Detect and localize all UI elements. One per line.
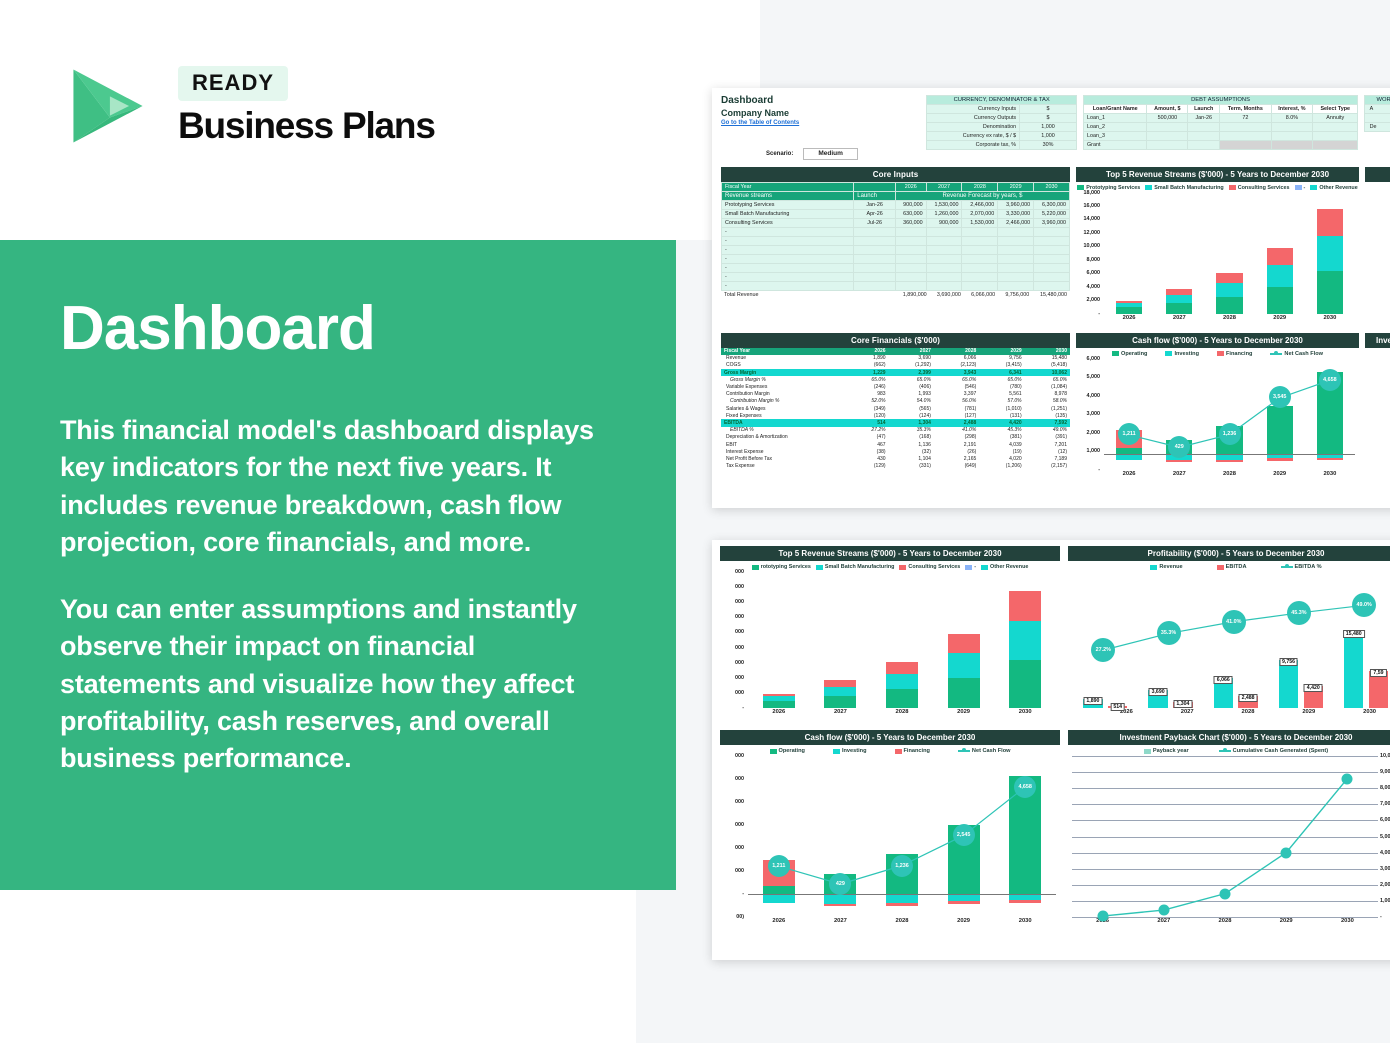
- x-tick: 2027: [1154, 315, 1204, 328]
- table-of-contents-link[interactable]: Go to the Table of Contents: [721, 120, 920, 126]
- legend-label: Payback year: [1153, 748, 1189, 754]
- bar-segment: [1267, 287, 1293, 314]
- net-cash-flow-bubble: 3,545: [1269, 386, 1291, 408]
- debt-row[interactable]: Grant: [1083, 141, 1357, 150]
- bar-value-label: 6,066: [1214, 676, 1233, 684]
- bar-group[interactable]: [1204, 193, 1254, 314]
- bars: 1,2114291,2362,5454,658: [748, 756, 1056, 917]
- working-panel-header: WOR: [1365, 96, 1390, 105]
- net-cash-flow-bubble: 4,658: [1014, 776, 1036, 798]
- brand-badge: READY: [178, 66, 288, 101]
- bar-segment: [886, 894, 918, 903]
- bar-segment: [763, 886, 795, 894]
- ebitda-percent-bubble: 27.2%: [1091, 638, 1115, 662]
- core-input-row[interactable]: Consulting ServicesJul-26360,000900,0001…: [722, 218, 1070, 227]
- chart-revenue-streams-bottom[interactable]: Top 5 Revenue Streams ($'000) - 5 Years …: [720, 546, 1060, 722]
- bar-segment: [1009, 900, 1041, 903]
- year-col: 2026: [895, 182, 926, 191]
- legend-item: Operating: [1112, 351, 1147, 357]
- year-col: 2027: [889, 348, 934, 355]
- bar-segment: [763, 894, 795, 903]
- plot-area: [1072, 756, 1378, 917]
- core-financials-row: EBITDA %27.2%35.3%41.0%45.3%49.0%: [721, 427, 1070, 434]
- bar-segment: [1166, 295, 1192, 303]
- legend-label: EBITDA: [1226, 564, 1247, 570]
- bar-segment: [1267, 458, 1293, 460]
- bar-value-label: 1,304: [1173, 700, 1192, 708]
- bar-segment: [886, 689, 918, 708]
- gridline: [1072, 917, 1378, 918]
- net-cash-flow-bubble: 2,545: [953, 824, 975, 846]
- legend-label: Investing: [1174, 351, 1199, 357]
- chart-title: Profitability ($'000) - 5 Years to Decem…: [1068, 546, 1390, 561]
- year-col: 2027: [926, 182, 962, 191]
- debt-col-header: Loan/Grant Name: [1083, 105, 1146, 114]
- bar-segment: [1166, 303, 1192, 313]
- forecast-label: Revenue Forecast by years, $: [895, 191, 1069, 200]
- core-input-row[interactable]: -: [722, 263, 1070, 272]
- bar-segment: [886, 662, 918, 674]
- bar-value-label: 514: [1110, 703, 1125, 711]
- x-tick: 2027: [1157, 709, 1218, 722]
- fiscal-year-label: Fiscal Year: [721, 348, 843, 355]
- bar-group[interactable]: [1255, 193, 1305, 314]
- data-point: [1097, 911, 1108, 922]
- year-col: 2030: [1034, 182, 1070, 191]
- x-axis-labels: 20262027202820292030: [1072, 918, 1378, 931]
- chart-title: Top 5 Revenue Streams ($'000) - 5 Years …: [1076, 167, 1359, 182]
- gridline: [1072, 901, 1378, 902]
- x-tick: 2029: [933, 709, 995, 722]
- total-revenue-cell: 15,480,000: [1032, 291, 1070, 299]
- bar-segment: [1216, 273, 1242, 283]
- dashboard-sheet-top[interactable]: Dashboard Company Name Go to the Table o…: [712, 88, 1390, 508]
- gridline: [1072, 756, 1378, 757]
- x-tick: 2028: [871, 918, 933, 931]
- legend-label: Operating: [1121, 351, 1147, 357]
- core-input-row[interactable]: -: [722, 236, 1070, 245]
- currency-row: Currency Inputs$: [927, 105, 1077, 114]
- legend-label: Consulting Services: [908, 564, 960, 570]
- hero-paragraph-1: This financial model's dashboard display…: [60, 412, 620, 561]
- x-tick: 2026: [1096, 709, 1157, 722]
- play-triangle-logo-icon: [60, 58, 156, 154]
- x-axis-labels: 20262027202820292030: [748, 709, 1056, 722]
- legend-swatch: [1217, 565, 1224, 570]
- legend-label: Financing: [904, 748, 930, 754]
- x-axis-labels: 20262027202820292030: [1096, 709, 1390, 722]
- bar-value-label: 9,756: [1279, 658, 1298, 666]
- bar-group[interactable]: [1305, 193, 1355, 314]
- chart-title: Cash flow ($'000) - 5 Years to December …: [1076, 333, 1359, 348]
- debt-row[interactable]: Loan_3: [1083, 132, 1357, 141]
- working-capital-table: WOR A De: [1364, 95, 1390, 132]
- bar-value-label: 15,480: [1343, 630, 1365, 638]
- chart-right-clipped-inv: Inve: [1365, 333, 1390, 484]
- legend-swatch: [895, 749, 902, 754]
- total-revenue-label: Total Revenue: [721, 291, 854, 299]
- legend-swatch: [1165, 351, 1172, 356]
- x-tick: 2029: [1255, 471, 1305, 484]
- legend-label: Operating: [779, 748, 805, 754]
- legend-label: Small Batch Manufacturing: [825, 564, 895, 570]
- legend-label: Other Revenue: [990, 564, 1028, 570]
- core-inputs-banner: Core Inputs: [721, 167, 1070, 182]
- core-input-row[interactable]: -: [722, 245, 1070, 254]
- bar-segment: [824, 696, 856, 708]
- legend-swatch: [833, 749, 840, 754]
- legend-label: -: [974, 564, 976, 570]
- legend-item: Other Revenue: [1310, 185, 1357, 191]
- core-input-row[interactable]: -: [722, 254, 1070, 263]
- total-revenue-cell: 1,890,000: [895, 291, 929, 299]
- data-point: [1158, 905, 1169, 916]
- legend-label: EBITDA %: [1295, 564, 1322, 570]
- zero-axis: [748, 894, 1056, 895]
- chart-legend: Prototyping ServicesSmall Batch Manufact…: [1076, 182, 1359, 193]
- bar-segment: [886, 903, 918, 906]
- net-cash-flow-bubble: 429: [829, 873, 851, 895]
- currency-denominator-tax-table: CURRENCY, DENOMINATOR & TAX Currency Inp…: [926, 95, 1077, 150]
- y-axis-labels: 6,0005,0004,0003,0002,0001,000-: [1076, 359, 1102, 484]
- bar-segment: [1116, 454, 1142, 460]
- bar-segment: [1216, 460, 1242, 462]
- x-tick: 2029: [1256, 918, 1317, 931]
- y-axis-labels: 18,00016,00014,00012,00010,0008,0006,000…: [1076, 193, 1102, 328]
- bar-group[interactable]: [871, 572, 933, 708]
- debt-col-header: Amount, $: [1147, 105, 1188, 114]
- legend-swatch: [752, 565, 759, 570]
- bar-segment: [948, 653, 980, 678]
- legend-item: EBITDA %: [1281, 564, 1322, 570]
- debt-col-header: Interest, %: [1271, 105, 1313, 114]
- y-axis-labels: 000000000000000000000000000-: [720, 572, 746, 722]
- core-financials-row: Contribution Margin9831,9933,3975,5618,9…: [721, 391, 1070, 398]
- net-cash-flow-bubble: 1,211: [1118, 423, 1140, 445]
- legend-label: Consulting Services: [1238, 185, 1290, 191]
- year-col: 2028: [934, 348, 979, 355]
- legend-label: -: [1304, 185, 1306, 191]
- legend-swatch: [1144, 749, 1151, 754]
- bar-group[interactable]: [1104, 193, 1154, 314]
- legend-item: Payback year: [1144, 748, 1189, 754]
- core-financials-row: Variable Expenses(246)(406)(546)(780)(1,…: [721, 383, 1070, 390]
- bar-segment: [1317, 236, 1343, 271]
- x-tick: 2028: [1204, 315, 1254, 328]
- data-point: [1342, 773, 1353, 784]
- core-input-row[interactable]: -: [722, 227, 1070, 236]
- legend-item: EBITDA: [1217, 564, 1247, 570]
- core-input-row[interactable]: Prototyping ServicesJan-26900,0001,530,0…: [722, 200, 1070, 209]
- x-tick: 2026: [748, 709, 810, 722]
- data-point: [1220, 888, 1231, 899]
- bar-segment: [886, 674, 918, 690]
- legend-swatch: [816, 565, 823, 570]
- legend-item: Other Revenue: [981, 564, 1028, 570]
- legend-label: Cumulative Cash Generated (Spent): [1233, 748, 1328, 754]
- debt-col-header: Term, Months: [1220, 105, 1271, 114]
- legend-item: Small Batch Manufacturing: [816, 564, 895, 570]
- year-col: 2026: [843, 348, 888, 355]
- bar-group[interactable]: [1154, 193, 1204, 314]
- core-financials-banner: Core Financials ($'000): [721, 333, 1070, 348]
- bar: [1344, 632, 1364, 708]
- x-tick: 2030: [1339, 709, 1390, 722]
- gridline: [1072, 772, 1378, 773]
- ebitda-percent-bubble: 35.3%: [1157, 621, 1181, 645]
- legend-item: Revenue: [1150, 564, 1182, 570]
- x-tick: 2029: [1278, 709, 1339, 722]
- year-col: 2028: [962, 182, 998, 191]
- x-tick: 2027: [810, 709, 872, 722]
- data-point: [1281, 847, 1292, 858]
- x-tick: 2026: [1104, 471, 1154, 484]
- y-axis-labels: 000000000000000000-00): [720, 756, 746, 931]
- core-financials-row: Net Profit Before Tax4301,1042,1654,0207…: [721, 455, 1070, 462]
- bar-segment: [824, 904, 856, 907]
- legend-swatch: [981, 565, 988, 570]
- bar-segment: [1317, 209, 1343, 236]
- bar-segment: [1216, 297, 1242, 314]
- legend-item: -: [965, 564, 976, 570]
- x-tick: 2030: [1317, 918, 1378, 931]
- bar-segment: [1267, 406, 1293, 454]
- year-col: 2030: [1025, 348, 1070, 355]
- bar-value-label: 3,690: [1149, 688, 1168, 696]
- chart-cash-flow-top[interactable]: Cash flow ($'000) - 5 Years to December …: [1076, 333, 1359, 484]
- legend-swatch: [1217, 351, 1224, 356]
- legend-swatch: [1219, 750, 1231, 752]
- net-cash-flow-bubble: 429: [1168, 436, 1190, 458]
- legend-swatch: [1150, 565, 1157, 570]
- page-title: Dashboard: [60, 298, 620, 360]
- core-financials-row: Tax Expense(129)(331)(649)(1,206)(2,157): [721, 463, 1070, 470]
- x-tick: 2029: [933, 918, 995, 931]
- legend-swatch: [1145, 185, 1152, 190]
- debt-col-header: Select Type: [1313, 105, 1358, 114]
- core-financials-row: EBITDA5141,3042,4884,4207,592: [721, 419, 1070, 426]
- legend-label: rototyping Services: [761, 564, 811, 570]
- x-tick: 2030: [994, 918, 1056, 931]
- x-tick: 2028: [871, 709, 933, 722]
- core-financials-row: Depreciation & Amortization(47)(168)(298…: [721, 434, 1070, 441]
- legend-item: rototyping Services: [752, 564, 811, 570]
- chart-profitability[interactable]: Profitability ($'000) - 5 Years to Decem…: [1068, 546, 1390, 722]
- legend-item: Financing: [895, 748, 930, 754]
- chart-investment-payback[interactable]: Investment Payback Chart ($'000) - 5 Yea…: [1068, 730, 1390, 931]
- core-financials-row: Gross Margin %65.0%65.0%65.0%65.0%65.0%: [721, 376, 1070, 383]
- legend-item: -: [1295, 185, 1306, 191]
- net-cash-flow-bubble: 4,658: [1319, 369, 1341, 391]
- legend-swatch: [1310, 185, 1317, 190]
- x-tick: 2026: [1104, 315, 1154, 328]
- chart-revenue-streams-top[interactable]: Top 5 Revenue Streams ($'000) - 5 Years …: [1076, 167, 1359, 328]
- chart-title: Cash flow ($'000) - 5 Years to December …: [720, 730, 1060, 745]
- x-tick: 2029: [1255, 315, 1305, 328]
- bar-group[interactable]: [748, 572, 810, 708]
- ebitda-percent-bubble: 45.3%: [1287, 601, 1311, 625]
- debt-col-header: Launch: [1188, 105, 1220, 114]
- total-revenue-cell: 9,756,000: [998, 291, 1032, 299]
- core-input-row[interactable]: -: [722, 272, 1070, 281]
- scenario-select[interactable]: Medium: [803, 148, 858, 160]
- bar-segment: [1009, 591, 1041, 621]
- bar: [1279, 660, 1299, 708]
- debt-row[interactable]: Loan_1500,000Jan-26728.0%Annuity: [1083, 114, 1357, 123]
- chart-legend: RevenueEBITDAEBITDA %: [1068, 561, 1390, 572]
- debt-assumptions-table: DEBT ASSUMPTIONS Loan/Grant NameAmount, …: [1083, 95, 1358, 150]
- legend-swatch: [1229, 185, 1236, 190]
- bar-group[interactable]: [810, 572, 872, 708]
- currency-row: Denomination1,000: [927, 123, 1077, 132]
- currency-panel-header: CURRENCY, DENOMINATOR & TAX: [927, 96, 1077, 105]
- revenue-streams-label: Revenue streams: [722, 191, 854, 200]
- x-axis-labels: 20262027202820292030: [1104, 471, 1355, 484]
- x-tick: 2030: [1305, 471, 1355, 484]
- sheet-title: Dashboard: [721, 95, 920, 108]
- bars: [1104, 193, 1355, 314]
- core-input-row[interactable]: -: [722, 281, 1070, 290]
- bar-segment: [1317, 458, 1343, 460]
- bar-segment: [1116, 307, 1142, 313]
- total-revenue-cell: 6,066,000: [964, 291, 998, 299]
- core-financials-row: Contribution Margin %52.0%54.0%56.0%57.0…: [721, 398, 1070, 405]
- net-cash-flow-bubble: 1,236: [891, 855, 913, 877]
- chart-legend: rototyping ServicesSmall Batch Manufactu…: [720, 561, 1060, 572]
- fiscal-year-label: Fiscal Year: [722, 182, 854, 191]
- bar-group[interactable]: [933, 572, 995, 708]
- legend-item: Operating: [770, 748, 805, 754]
- bars: 1,8903,6906,0669,75615,4805141,3042,4884…: [1074, 572, 1390, 708]
- legend-label: Investing: [842, 748, 867, 754]
- x-tick: 2028: [1194, 918, 1255, 931]
- zero-axis: [1104, 454, 1355, 455]
- core-input-row[interactable]: Small Batch ManufacturingApr-26630,0001,…: [722, 209, 1070, 218]
- debt-row[interactable]: Loan_2: [1083, 123, 1357, 132]
- total-revenue-row: Total Revenue 1,890,000 3,690,000 6,066,…: [721, 291, 1070, 299]
- x-tick: 2027: [1154, 471, 1204, 484]
- bar-value-label: 2,488: [1239, 694, 1258, 702]
- legend-label: Financing: [1226, 351, 1252, 357]
- legend-swatch: [1112, 351, 1119, 356]
- gridline: [1072, 788, 1378, 789]
- chart-legend: Payback yearCumulative Cash Generated (S…: [1068, 745, 1390, 756]
- legend-item: Investing: [833, 748, 867, 754]
- y-axis-labels: 10,09,008,007,006,005,004,003,002,001,00…: [1378, 756, 1390, 931]
- brand-name: Business Plans: [178, 105, 435, 147]
- legend-item: Net Cash Flow: [958, 748, 1011, 754]
- currency-row: Currency Outputs$: [927, 114, 1077, 123]
- core-financials-row: COGS(662)(1,292)(2,123)(3,415)(5,418): [721, 362, 1070, 369]
- bar-value-label: 7,59: [1370, 669, 1386, 677]
- bar-segment: [948, 894, 980, 901]
- gridline: [1072, 869, 1378, 870]
- ebitda-percent-bubble: 41.0%: [1222, 610, 1246, 634]
- core-financials-row: Gross Margin1,2292,3993,9436,34110,062: [721, 369, 1070, 376]
- chart-legend: OperatingInvestingFinancingNet Cash Flow: [720, 745, 1060, 756]
- core-financials-row: Interest Expense(38)(32)(26)(19)(12): [721, 448, 1070, 455]
- bar-segment: [948, 901, 980, 904]
- legend-swatch: [770, 749, 777, 754]
- bar-segment: [824, 680, 856, 687]
- bars: [748, 572, 1056, 708]
- legend-item: Consulting Services: [899, 564, 960, 570]
- x-tick: 2026: [748, 918, 810, 931]
- bar-segment: [824, 687, 856, 697]
- total-revenue-cell: 3,690,000: [930, 291, 964, 299]
- chart-title: Investment Payback Chart ($'000) - 5 Yea…: [1068, 730, 1390, 745]
- gridline: [1072, 885, 1378, 886]
- legend-swatch: [965, 565, 972, 570]
- launch-label: Launch: [854, 191, 896, 200]
- bar-segment: [763, 701, 795, 708]
- legend-swatch: [899, 565, 906, 570]
- hero-paragraph-2: You can enter assumptions and instantly …: [60, 591, 620, 777]
- bar-group[interactable]: [994, 572, 1056, 708]
- chart-right-clipped-top: [1365, 167, 1390, 328]
- core-financials-table: Fiscal Year 2026 2027 2028 2029 2030 Rev…: [721, 348, 1070, 470]
- x-axis-labels: 20262027202820292030: [1104, 315, 1355, 328]
- scenario-label: Scenario:: [766, 151, 793, 157]
- legend-item: Investing: [1165, 351, 1199, 357]
- x-tick: 2030: [994, 709, 1056, 722]
- chart-cash-flow-bottom[interactable]: Cash flow ($'000) - 5 Years to December …: [720, 730, 1060, 931]
- bar-segment: [1267, 248, 1293, 265]
- bar-segment: [1166, 460, 1192, 462]
- bar-segment: [948, 678, 980, 708]
- legend-label: Other Revenue: [1319, 185, 1357, 191]
- core-financials-row: Salaries & Wages(349)(565)(781)(1,010)(1…: [721, 405, 1070, 412]
- core-financials-row: Revenue1,8903,6906,0669,75615,480: [721, 355, 1070, 362]
- net-cash-flow-bubble: 1,236: [1219, 423, 1241, 445]
- legend-item: Consulting Services: [1229, 185, 1290, 191]
- x-tick: 2028: [1218, 709, 1279, 722]
- gridline: [1072, 837, 1378, 838]
- currency-row: Currency ex rate, $ / $1,000: [927, 132, 1077, 141]
- ebitda-percent-bubble: 49.0%: [1352, 593, 1376, 617]
- legend-item: Net Cash Flow: [1270, 351, 1323, 357]
- hero-panel: Dashboard This financial model's dashboa…: [0, 240, 676, 890]
- bar-segment: [1009, 660, 1041, 708]
- brand-logo: READY Business Plans: [60, 58, 435, 154]
- x-axis-labels: 20262027202820292030: [748, 918, 1056, 931]
- x-tick: 2027: [810, 918, 872, 931]
- bar-value-label: 4,420: [1304, 684, 1323, 692]
- bar-value-label: 1,890: [1083, 697, 1102, 705]
- currency-row: Corporate tax, %30%: [927, 141, 1077, 150]
- legend-label: Net Cash Flow: [1284, 351, 1323, 357]
- bar-segment: [1267, 265, 1293, 287]
- bars: 1,2114291,2363,5454,658: [1104, 359, 1355, 470]
- x-tick: 2030: [1305, 315, 1355, 328]
- legend-label: Small Batch Manufacturing: [1154, 185, 1224, 191]
- bar-segment: [1317, 271, 1343, 313]
- legend-swatch: [1281, 566, 1293, 568]
- legend-item: Cumulative Cash Generated (Spent): [1219, 748, 1328, 754]
- company-name: Company Name: [721, 108, 920, 118]
- legend-item: Financing: [1217, 351, 1252, 357]
- dashboard-sheet-bottom[interactable]: Top 5 Revenue Streams ($'000) - 5 Years …: [712, 540, 1390, 960]
- chart-title: Top 5 Revenue Streams ($'000) - 5 Years …: [720, 546, 1060, 561]
- gridline: [1072, 853, 1378, 854]
- core-inputs-table: Fiscal Year 2026 2027 2028 2029 2030 Rev…: [721, 182, 1070, 291]
- net-cash-flow-bubble: 1,211: [768, 855, 790, 877]
- debt-panel-header: DEBT ASSUMPTIONS: [1083, 96, 1357, 105]
- legend-item: Small Batch Manufacturing: [1145, 185, 1224, 191]
- gridline: [1072, 820, 1378, 821]
- legend-label: Net Cash Flow: [972, 748, 1011, 754]
- gridline: [1072, 804, 1378, 805]
